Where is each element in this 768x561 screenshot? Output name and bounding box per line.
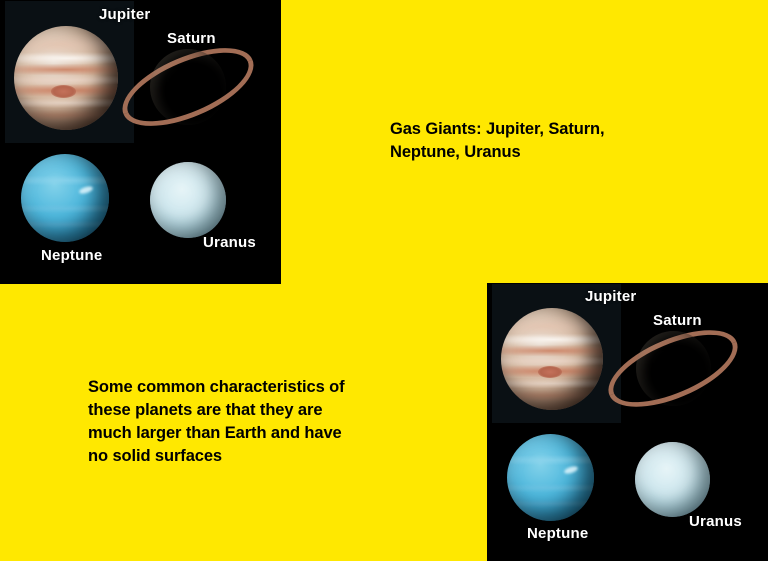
presentation-slide: Jupiter Saturn Neptune Uranus Gas Giants… [0, 0, 768, 561]
photo-canvas: Jupiter Saturn Neptune Uranus [487, 283, 768, 561]
jupiter-label: Jupiter [99, 6, 150, 23]
uranus-label: Uranus [689, 513, 742, 530]
photo-canvas: Jupiter Saturn Neptune Uranus [0, 0, 281, 284]
neptune-planet-icon [21, 154, 109, 242]
gas-giants-image-bottom-right: Jupiter Saturn Neptune Uranus [487, 283, 768, 561]
jupiter-label: Jupiter [585, 288, 636, 305]
uranus-label: Uranus [203, 234, 256, 251]
neptune-planet-icon [507, 434, 594, 521]
slide-heading: Gas Giants: Jupiter, Saturn, Neptune, Ur… [390, 118, 710, 164]
uranus-planet-icon [635, 442, 710, 517]
slide-body-text: Some common characteristics of these pla… [88, 376, 398, 468]
neptune-label: Neptune [527, 525, 588, 542]
saturn-label: Saturn [167, 30, 216, 47]
uranus-planet-icon [150, 162, 226, 238]
saturn-label: Saturn [653, 312, 702, 329]
jupiter-planet-icon [501, 308, 603, 410]
gas-giants-image-top-left: Jupiter Saturn Neptune Uranus [0, 0, 281, 284]
jupiter-planet-icon [14, 26, 118, 130]
neptune-label: Neptune [41, 247, 102, 264]
